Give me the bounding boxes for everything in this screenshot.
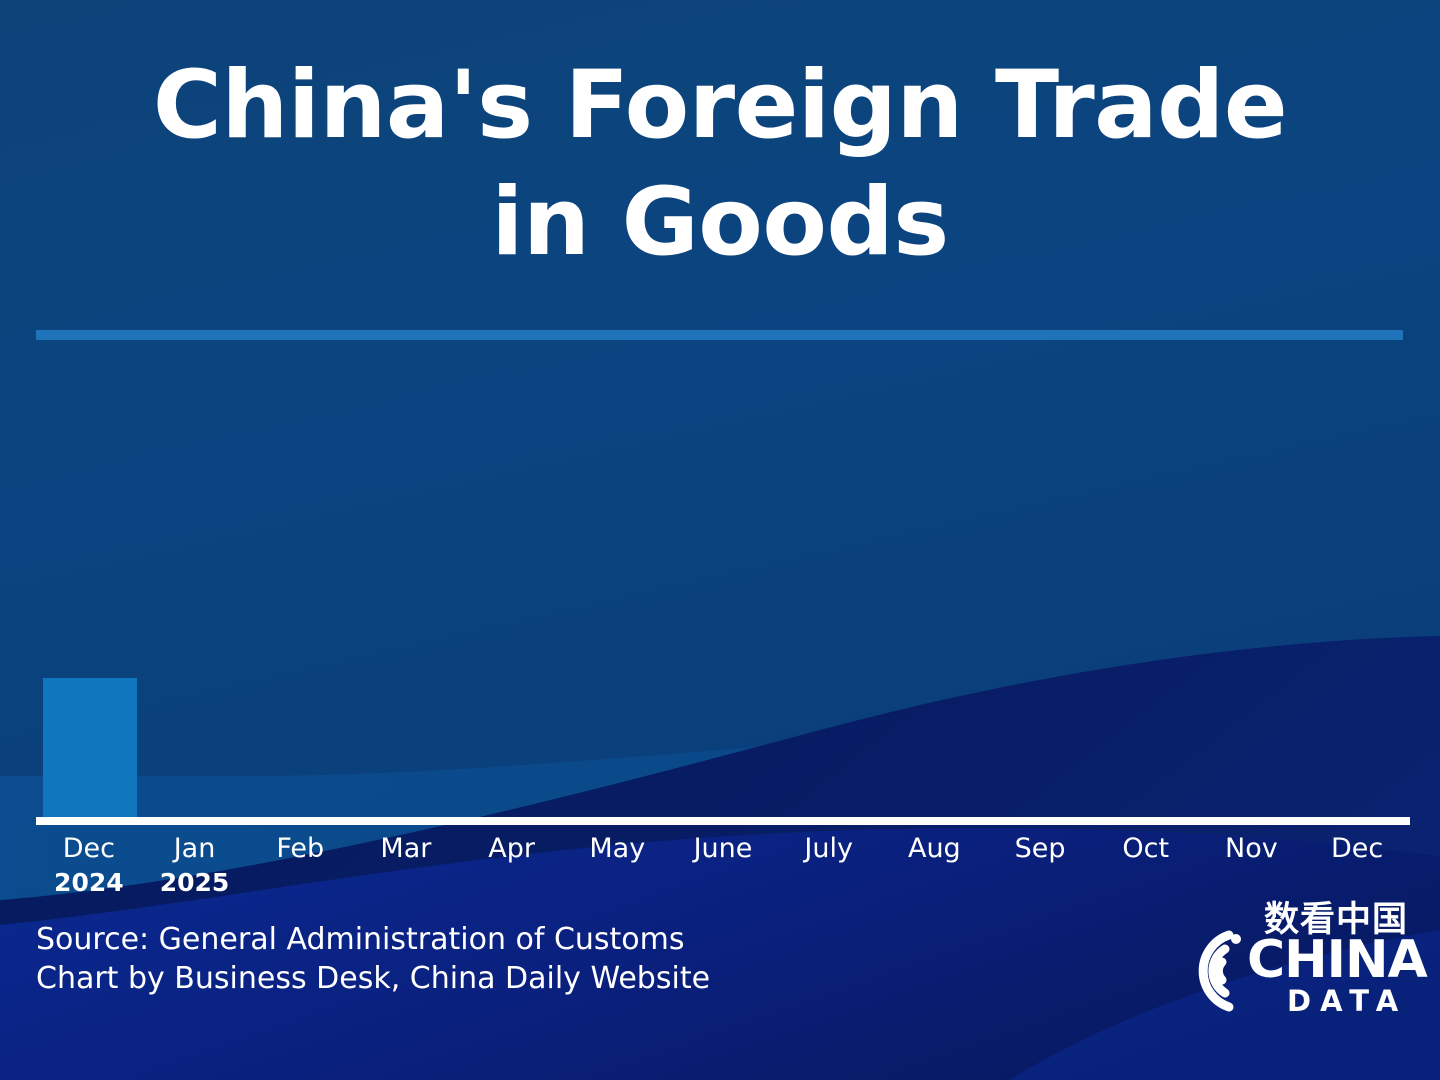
bar-slot: [247, 372, 353, 820]
bar-slot: [142, 372, 248, 820]
x-axis-line: [36, 817, 1410, 825]
bar-series: [36, 372, 1410, 820]
x-tick-month: Dec: [1331, 833, 1383, 864]
x-tick-month: Feb: [276, 833, 324, 864]
title-block: China's Foreign Trade in Goods: [0, 48, 1440, 281]
x-tick-0: Dec 2024: [36, 832, 142, 899]
x-tick-month: Sep: [1015, 833, 1066, 864]
x-tick-2: Feb: [247, 832, 353, 899]
x-tick-month: July: [804, 833, 853, 864]
x-tick-10: Oct: [1093, 832, 1199, 899]
x-tick-month: Oct: [1122, 833, 1169, 864]
x-tick-7: July: [776, 832, 882, 899]
bar-slot: [1093, 372, 1199, 820]
bar-slot: [670, 372, 776, 820]
logo-subtitle: DATA: [1287, 987, 1407, 1016]
page-title: China's Foreign Trade in Goods: [0, 48, 1440, 281]
bar-slot: [459, 372, 565, 820]
bar-slot: [353, 372, 459, 820]
logo-wordmark: CHINA: [1247, 934, 1427, 986]
bar-slot: [987, 372, 1093, 820]
x-tick-8: Aug: [882, 832, 988, 899]
bar-slot: [564, 372, 670, 820]
bar-slot: [1199, 372, 1305, 820]
x-axis-labels: Dec 2024 Jan 2025 Feb Mar Apr May June J…: [36, 832, 1410, 899]
x-tick-month: Nov: [1225, 833, 1278, 864]
x-tick-month: Aug: [908, 833, 961, 864]
x-tick-9: Sep: [987, 832, 1093, 899]
x-tick-5: May: [564, 832, 670, 899]
bar-slot: [1304, 372, 1410, 820]
x-tick-year: 2024: [36, 866, 142, 899]
plot-area: [36, 372, 1410, 820]
bar-slot: [36, 372, 142, 820]
source-credit: Source: General Administration of Custom…: [36, 920, 710, 998]
bar-slot: [882, 372, 988, 820]
x-tick-1: Jan 2025: [142, 832, 248, 899]
x-tick-3: Mar: [353, 832, 459, 899]
slide-canvas: China's Foreign Trade in Goods: [0, 0, 1440, 1080]
x-tick-month: Jan: [174, 833, 216, 864]
x-tick-year: 2025: [142, 866, 248, 899]
x-tick-month: June: [694, 833, 753, 864]
x-tick-12: Dec: [1304, 832, 1410, 899]
bar-dec-2024[interactable]: [43, 678, 137, 820]
x-tick-6: June: [670, 832, 776, 899]
x-tick-month: Dec: [63, 833, 115, 864]
x-tick-month: May: [589, 833, 645, 864]
brand-logo: 数看中国 CHINA DATA: [1195, 903, 1410, 1023]
x-tick-4: Apr: [459, 832, 565, 899]
x-tick-11: Nov: [1199, 832, 1305, 899]
x-tick-month: Apr: [488, 833, 535, 864]
bar-slot: [776, 372, 882, 820]
title-divider: [36, 330, 1403, 340]
x-tick-month: Mar: [380, 833, 431, 864]
